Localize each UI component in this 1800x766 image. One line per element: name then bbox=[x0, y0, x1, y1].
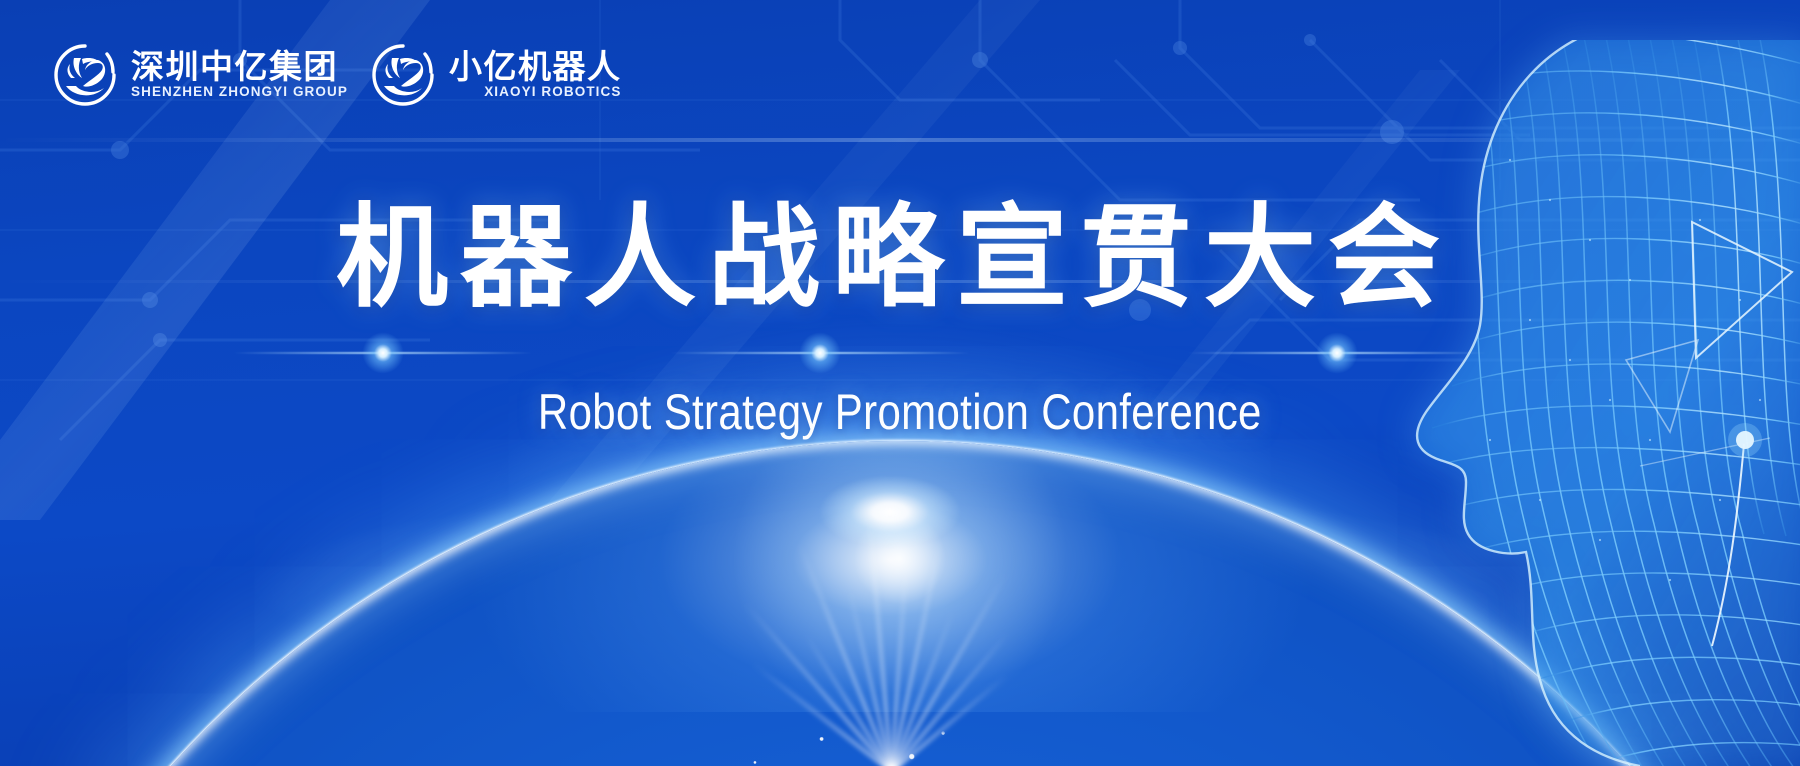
logo-zhongyi-name-cn: 深圳中亿集团 bbox=[131, 49, 348, 85]
logo-shenzhen-zhongyi-group[interactable]: 深圳中亿集团 SHENZHEN ZHONGYI GROUP bbox=[52, 42, 348, 108]
page-subtitle: Robot Strategy Promotion Conference bbox=[538, 383, 1262, 441]
atmosphere-rim bbox=[0, 441, 1800, 766]
logo-xiaoyi-robotics[interactable]: 小亿机器人 XIAOYI ROBOTICS bbox=[370, 42, 622, 108]
headline-block: 机器人战略宣贯大会 Robot Strategy Promotion Confe… bbox=[0, 196, 1800, 441]
logo-zhongyi-name-en: SHENZHEN ZHONGYI GROUP bbox=[131, 84, 348, 101]
earth-horizon-globe bbox=[0, 346, 1800, 766]
city-lights bbox=[0, 441, 1800, 766]
logo-bar: 深圳中亿集团 SHENZHEN ZHONGYI GROUP 小亿机器人 XIAO… bbox=[52, 42, 621, 108]
logo-xiaoyi-name-en: XIAOYI ROBOTICS bbox=[449, 84, 622, 101]
page-title: 机器人战略宣贯大会 bbox=[324, 196, 1452, 319]
logo-xiaoyi-name-cn: 小亿机器人 bbox=[449, 49, 622, 85]
light-streak-overlay bbox=[0, 0, 1800, 766]
xiaoyi-swirl-mark bbox=[370, 42, 436, 108]
zhongyi-swirl-mark bbox=[52, 42, 118, 108]
circuit-trace-pattern bbox=[0, 0, 1800, 766]
conference-banner: 深圳中亿集团 SHENZHEN ZHONGYI GROUP 小亿机器人 XIAO… bbox=[0, 0, 1800, 766]
wireframe-human-head-profile bbox=[1340, 40, 1800, 766]
horizon-glow bbox=[150, 470, 1650, 620]
flare-divider bbox=[265, 341, 1535, 365]
